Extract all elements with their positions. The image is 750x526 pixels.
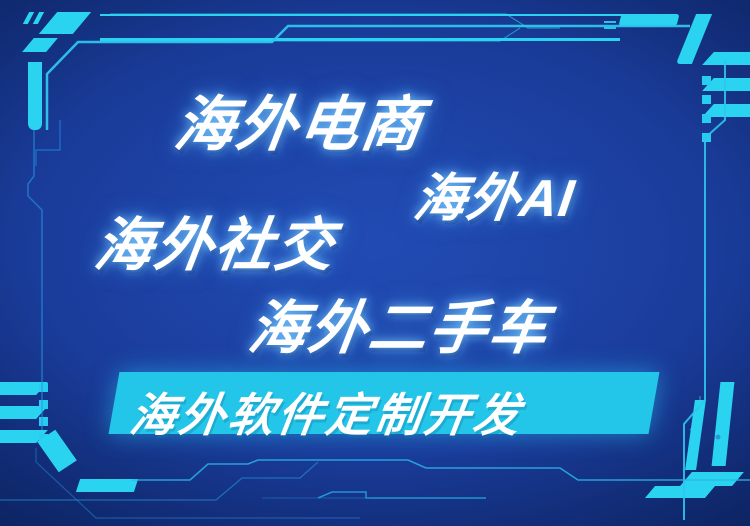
headline-overseas-used-cars: 海外二手车 bbox=[244, 281, 556, 365]
headline-overseas-ai: 海外AI bbox=[410, 156, 581, 231]
banner-label-overseas-software-custom-development: 海外软件定制开发 bbox=[128, 379, 635, 429]
headline-overseas-social: 海外社交 bbox=[90, 198, 342, 282]
banner-poster: 海外电商 海外AI 海外社交 海外二手车 海外软件定制开发 bbox=[0, 0, 750, 526]
headline-overseas-ecommerce: 海外电商 bbox=[170, 76, 430, 163]
